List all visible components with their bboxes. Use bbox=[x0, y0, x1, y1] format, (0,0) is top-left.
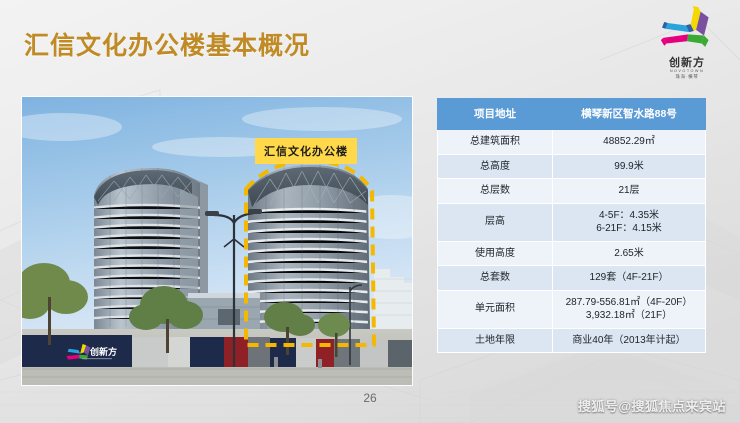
table-row: 土地年限 商业40年（2013年计起） bbox=[438, 328, 706, 353]
slide-canvas: 汇信文化办公楼基本概况 创新方 NOVOTOWN 珠海·横琴 bbox=[0, 0, 740, 423]
table-row: 总高度 99.9米 bbox=[438, 154, 706, 179]
row-value-floor-count: 21层 bbox=[553, 179, 706, 204]
row-value-total-units: 129套（4F-21F） bbox=[553, 266, 706, 291]
watermark: 搜狐号@搜狐焦点来宾站 bbox=[578, 396, 726, 415]
row-label-floor-count: 总层数 bbox=[438, 179, 553, 204]
row-label-usable-height: 使用高度 bbox=[438, 241, 553, 266]
table-row: 层高 4-5F：4.35米 6-21F：4.15米 bbox=[438, 203, 706, 241]
row-label-total-area: 总建筑面积 bbox=[438, 130, 553, 155]
photo-callout-label: 汇信文化办公楼 bbox=[255, 138, 357, 164]
logo-subtitle-en: NOVOTOWN bbox=[642, 69, 732, 74]
row-label-total-units: 总套数 bbox=[438, 266, 553, 291]
row-value-land-tenure: 商业40年（2013年计起） bbox=[553, 328, 706, 353]
table-header-label: 项目地址 bbox=[438, 99, 553, 130]
row-value-total-height: 99.9米 bbox=[553, 154, 706, 179]
table-row: 使用高度 2.65米 bbox=[438, 241, 706, 266]
brand-logo: 创新方 NOVOTOWN 珠海·横琴 bbox=[644, 6, 730, 86]
row-label-land-tenure: 土地年限 bbox=[438, 328, 553, 353]
row-value-unit-area: 287.79-556.81㎡（4F-20F） 3,932.18㎡（21F） bbox=[553, 290, 706, 328]
project-info-table: 项目地址 横琴新区智水路88号 总建筑面积 48852.29㎡ 总高度 99.9… bbox=[437, 98, 706, 353]
table-header-value: 横琴新区智水路88号 bbox=[553, 99, 706, 130]
table-row: 总层数 21层 bbox=[438, 179, 706, 204]
table-row: 总建筑面积 48852.29㎡ bbox=[438, 130, 706, 155]
page-title: 汇信文化办公楼基本概况 bbox=[24, 26, 310, 62]
project-info-table-body: 项目地址 横琴新区智水路88号 总建筑面积 48852.29㎡ 总高度 99.9… bbox=[438, 99, 706, 353]
pinwheel-logo-icon bbox=[658, 6, 716, 56]
row-label-floor-height: 层高 bbox=[438, 203, 553, 241]
logo-name: 创新方 bbox=[644, 57, 730, 69]
logo-subtitle-cn: 珠海·横琴 bbox=[644, 74, 730, 80]
row-label-total-height: 总高度 bbox=[438, 154, 553, 179]
table-row: 单元面积 287.79-556.81㎡（4F-20F） 3,932.18㎡（21… bbox=[438, 290, 706, 328]
table-row: 总套数 129套（4F-21F） bbox=[438, 266, 706, 291]
svg-text:创新方: 创新方 bbox=[89, 346, 117, 358]
row-value-floor-height: 4-5F：4.35米 6-21F：4.15米 bbox=[553, 203, 706, 241]
row-value-usable-height: 2.65米 bbox=[553, 241, 706, 266]
table-row: 项目地址 横琴新区智水路88号 bbox=[438, 99, 706, 130]
row-value-total-area: 48852.29㎡ bbox=[553, 130, 706, 155]
row-label-unit-area: 单元面积 bbox=[438, 290, 553, 328]
